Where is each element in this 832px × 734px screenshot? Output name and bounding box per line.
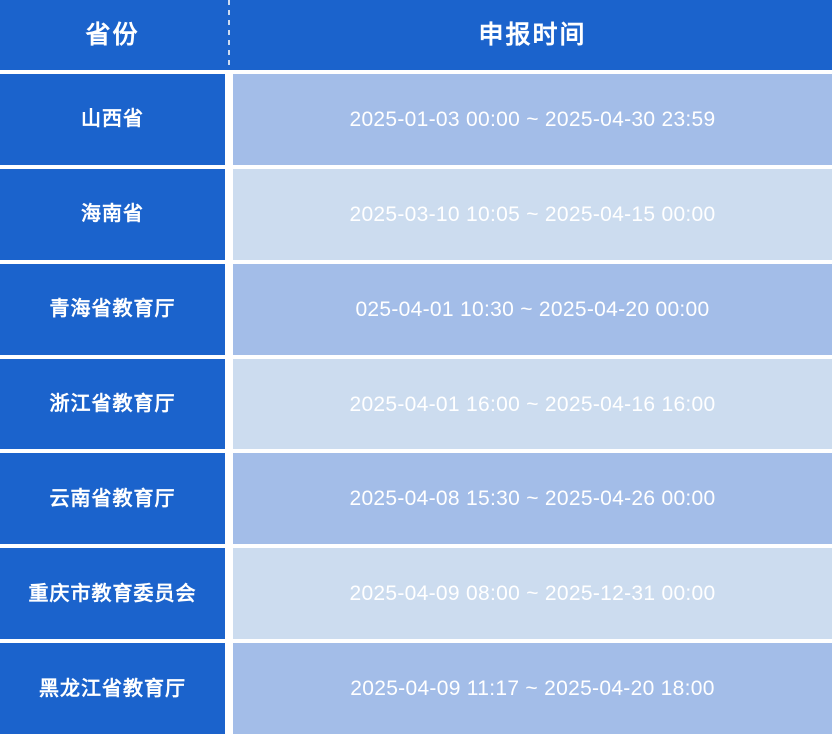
column-header-province-label: 省份 (85, 23, 139, 48)
table-row: 云南省教育厅 2025-04-08 15:30 ~ 2025-04-26 00:… (0, 453, 832, 544)
cell-time: 2025-01-03 00:00 ~ 2025-04-30 23:59 (233, 74, 832, 165)
time-range-label: 2025-01-03 00:00 ~ 2025-04-30 23:59 (349, 109, 715, 130)
column-gap (225, 74, 233, 165)
cell-time: 2025-04-09 11:17 ~ 2025-04-20 18:00 (233, 643, 832, 734)
cell-province: 青海省教育厅 (0, 264, 225, 355)
time-range-label: 2025-03-10 10:05 ~ 2025-04-15 00:00 (349, 204, 715, 225)
province-label: 海南省 (81, 204, 144, 224)
time-range-label: 2025-04-09 11:17 ~ 2025-04-20 18:00 (350, 678, 715, 699)
province-label: 重庆市教育委员会 (29, 584, 197, 604)
table-row: 海南省 2025-03-10 10:05 ~ 2025-04-15 00:00 (0, 169, 832, 260)
column-gap (225, 169, 233, 260)
cell-time: 025-04-01 10:30 ~ 2025-04-20 00:00 (233, 264, 832, 355)
province-label: 山西省 (81, 109, 144, 129)
table-row: 重庆市教育委员会 2025-04-09 08:00 ~ 2025-12-31 0… (0, 548, 832, 639)
header-column-divider (225, 0, 233, 70)
column-gap (225, 643, 233, 734)
cell-time: 2025-04-01 16:00 ~ 2025-04-16 16:00 (233, 359, 832, 450)
declaration-schedule-table: 省份 申报时间 山西省 2025-01-03 00:00 ~ 2025-04-3… (0, 0, 832, 734)
cell-province: 海南省 (0, 169, 225, 260)
table-row: 黑龙江省教育厅 2025-04-09 11:17 ~ 2025-04-20 18… (0, 643, 832, 734)
cell-province: 浙江省教育厅 (0, 359, 225, 450)
dashed-divider-line (228, 0, 230, 70)
cell-time: 2025-04-09 08:00 ~ 2025-12-31 00:00 (233, 548, 832, 639)
cell-time: 2025-03-10 10:05 ~ 2025-04-15 00:00 (233, 169, 832, 260)
cell-province: 云南省教育厅 (0, 453, 225, 544)
column-gap (225, 264, 233, 355)
table-row: 青海省教育厅 025-04-01 10:30 ~ 2025-04-20 00:0… (0, 264, 832, 355)
column-header-province: 省份 (0, 0, 225, 70)
cell-time: 2025-04-08 15:30 ~ 2025-04-26 00:00 (233, 453, 832, 544)
column-header-time: 申报时间 (233, 0, 832, 70)
province-label: 云南省教育厅 (50, 489, 176, 509)
time-range-label: 2025-04-08 15:30 ~ 2025-04-26 00:00 (349, 488, 715, 509)
province-label: 黑龙江省教育厅 (39, 679, 186, 699)
table-row: 山西省 2025-01-03 00:00 ~ 2025-04-30 23:59 (0, 74, 832, 165)
cell-province: 黑龙江省教育厅 (0, 643, 225, 734)
column-gap (225, 453, 233, 544)
column-gap (225, 548, 233, 639)
time-range-label: 025-04-01 10:30 ~ 2025-04-20 00:00 (355, 299, 709, 320)
time-range-label: 2025-04-09 08:00 ~ 2025-12-31 00:00 (349, 583, 715, 604)
cell-province: 重庆市教育委员会 (0, 548, 225, 639)
column-gap (225, 359, 233, 450)
table-row: 浙江省教育厅 2025-04-01 16:00 ~ 2025-04-16 16:… (0, 359, 832, 450)
cell-province: 山西省 (0, 74, 225, 165)
time-range-label: 2025-04-01 16:00 ~ 2025-04-16 16:00 (349, 394, 715, 415)
table-header-row: 省份 申报时间 (0, 0, 832, 70)
province-label: 青海省教育厅 (50, 299, 176, 319)
province-label: 浙江省教育厅 (50, 394, 176, 414)
column-header-time-label: 申报时间 (478, 23, 586, 48)
